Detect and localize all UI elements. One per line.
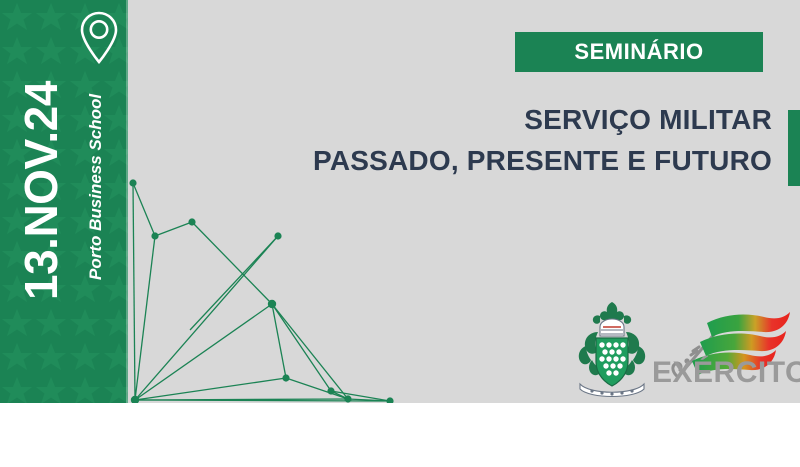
seminar-poster: 13.NOV.24 Porto Business School SEMINÁRI… xyxy=(0,0,800,467)
bottom-white-strip xyxy=(0,403,800,467)
army-coat-of-arms-icon xyxy=(570,300,654,400)
exercito-wordmark: EXÉRCITO xyxy=(652,358,800,388)
right-accent-bar xyxy=(788,110,800,186)
event-date: 13.NOV.24 xyxy=(18,81,64,300)
title-line-2: PASSADO, PRESENTE E FUTURO xyxy=(280,141,772,182)
seminar-badge: SEMINÁRIO xyxy=(515,32,763,72)
left-date-panel: 13.NOV.24 Porto Business School xyxy=(0,0,128,403)
poster-title: SERVIÇO MILITAR PASSADO, PRESENTE E FUTU… xyxy=(280,100,772,181)
event-venue: Porto Business School xyxy=(87,94,104,280)
panel-edge-line xyxy=(126,0,128,403)
title-line-1: SERVIÇO MILITAR xyxy=(280,100,772,141)
location-pin-icon xyxy=(78,10,120,66)
